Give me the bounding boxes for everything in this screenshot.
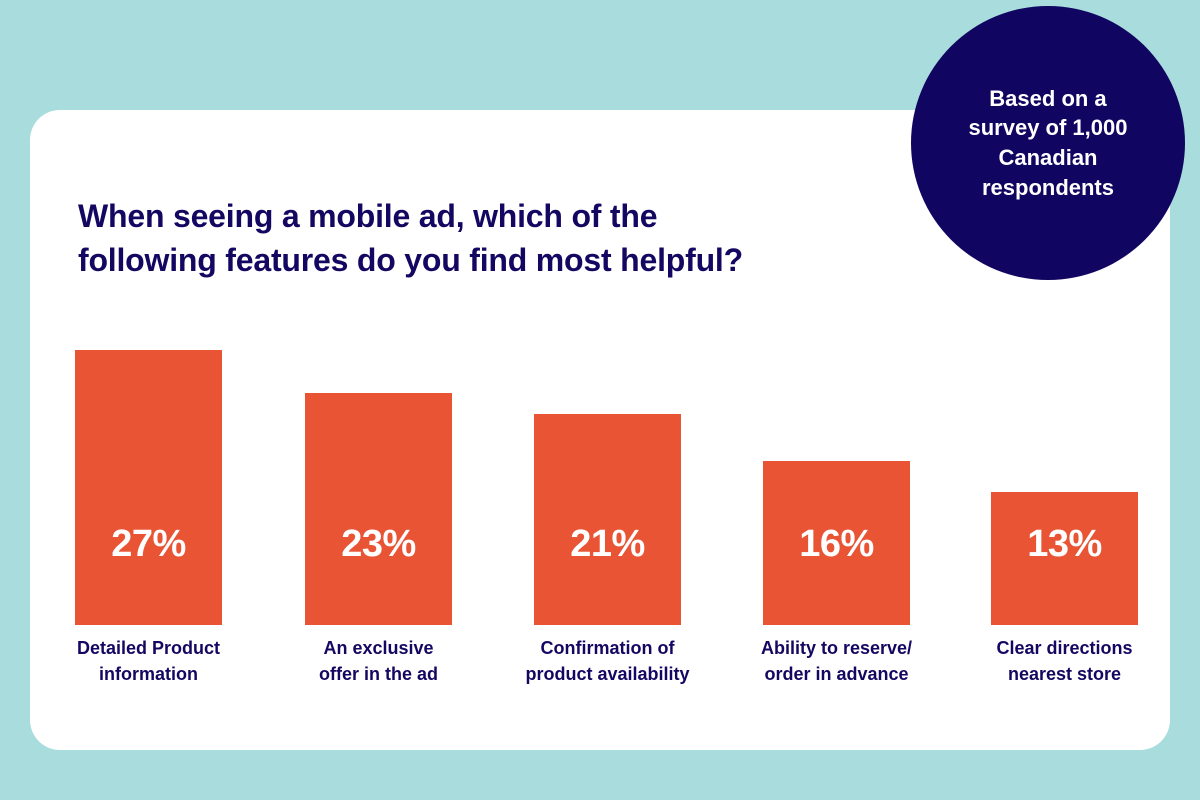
survey-source-line-4: respondents bbox=[969, 173, 1128, 203]
bar-value-4: 16% bbox=[763, 525, 910, 563]
bar-label-5: Clear directions nearest store bbox=[971, 635, 1158, 687]
bar-value-5: 13% bbox=[991, 525, 1138, 563]
bar-1 bbox=[75, 350, 222, 625]
bar-value-2: 23% bbox=[305, 525, 452, 563]
bar-label-3-line-1: Confirmation of bbox=[514, 635, 701, 661]
bar-label-2-line-2: offer in the ad bbox=[285, 661, 472, 687]
bar-label-2: An exclusive offer in the ad bbox=[285, 635, 472, 687]
bar-label-1: Detailed Product information bbox=[55, 635, 242, 687]
bar-label-2-line-1: An exclusive bbox=[285, 635, 472, 661]
survey-source-text: Based on a survey of 1,000 Canadian resp… bbox=[951, 84, 1146, 203]
survey-source-line-2: survey of 1,000 bbox=[969, 113, 1128, 143]
bar-value-3: 21% bbox=[534, 525, 681, 563]
bar-label-5-line-2: nearest store bbox=[971, 661, 1158, 687]
bar-label-4-line-1: Ability to reserve/ bbox=[743, 635, 930, 661]
survey-source-line-3: Canadian bbox=[969, 143, 1128, 173]
bar-label-1-line-2: information bbox=[55, 661, 242, 687]
bar-value-1: 27% bbox=[75, 525, 222, 563]
bar-3 bbox=[534, 414, 681, 625]
bar-group-4: 16% Ability to reserve/ order in advance bbox=[763, 225, 910, 625]
bar-group-5: 13% Clear directions nearest store bbox=[991, 225, 1138, 625]
bar-label-1-line-1: Detailed Product bbox=[55, 635, 242, 661]
bar-2 bbox=[305, 393, 452, 625]
bar-label-4-line-2: order in advance bbox=[743, 661, 930, 687]
bar-label-5-line-1: Clear directions bbox=[971, 635, 1158, 661]
bar-group-1: 27% Detailed Product information bbox=[75, 225, 222, 625]
bar-label-3: Confirmation of product availability bbox=[514, 635, 701, 687]
survey-source-badge: Based on a survey of 1,000 Canadian resp… bbox=[911, 6, 1185, 280]
bar-label-4: Ability to reserve/ order in advance bbox=[743, 635, 930, 687]
survey-source-line-1: Based on a bbox=[969, 84, 1128, 114]
bar-group-3: 21% Confirmation of product availability bbox=[534, 225, 681, 625]
bar-label-3-line-2: product availability bbox=[514, 661, 701, 687]
bar-group-2: 23% An exclusive offer in the ad bbox=[305, 225, 452, 625]
